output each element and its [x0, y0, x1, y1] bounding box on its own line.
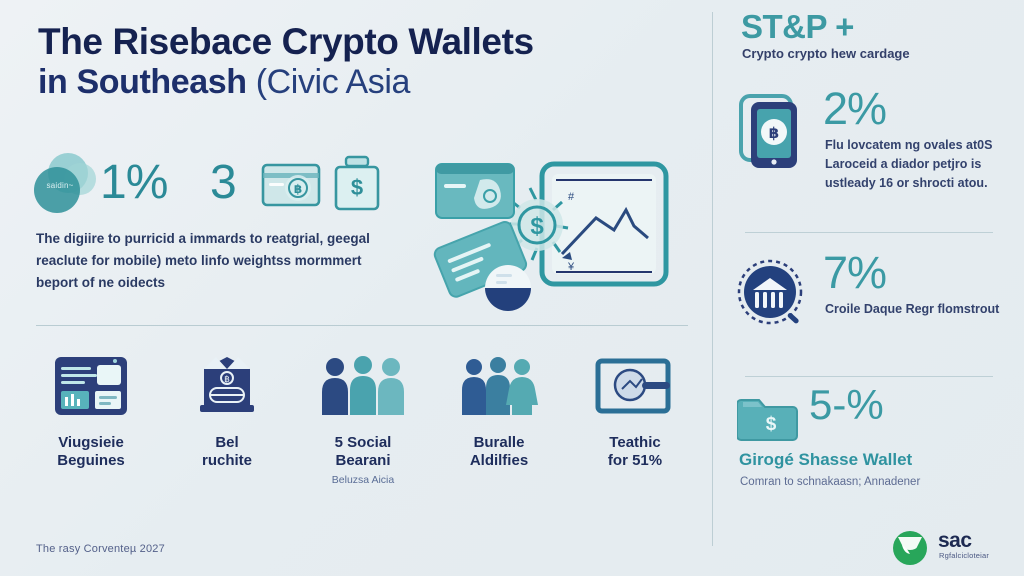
teal-blob-icon: saidin~ — [34, 153, 96, 213]
people-group-icon — [298, 348, 428, 424]
bank-magnifier-icon — [737, 256, 807, 334]
sidebar: ST&P + Crypto crypto hew cardage ฿ 2% Fl… — [713, 0, 1024, 576]
eagle-shield-icon — [890, 529, 932, 567]
feature-item-dashboard[interactable]: Viugsieie Beguines — [26, 348, 156, 474]
svg-text:$: $ — [766, 414, 777, 435]
feature-caption: Teathic for 51% — [570, 434, 700, 471]
feature-item-audience[interactable]: Buralle Aldilfies — [434, 348, 564, 474]
svg-text:¥: ¥ — [567, 261, 575, 273]
feature-subcaption: Beluzsa Aicia — [298, 474, 428, 487]
credit-card-icon — [436, 164, 514, 218]
svg-text:#: # — [568, 191, 575, 203]
feature-caption: Buralle Aldilfies — [434, 434, 564, 471]
sidebar-stat-text: Flu lovcatem ng ovales at0S Laroceid a d… — [825, 136, 1020, 192]
wallet-label: Girogé Shasse Wallet — [739, 450, 912, 470]
screen-search-icon — [570, 348, 700, 424]
mobile-phone-bitcoin-icon: ฿ — [737, 92, 807, 170]
title-line-1: The Risebace Crypto Wallets — [38, 22, 688, 61]
sidebar-stat-text: Croile Daque Regr flomstrout — [825, 300, 1020, 319]
wallet-stat-value: 5-% — [809, 384, 884, 426]
sidebar-stat-value: 2% — [823, 86, 886, 131]
brand-logo[interactable]: sac Rgfalcicloteiar — [890, 527, 1010, 567]
feature-caption: Bel ruchite — [162, 434, 292, 471]
sidebar-title: ST&P + — [741, 8, 854, 46]
svg-text:$: $ — [530, 213, 544, 240]
page-title: The Risebace Crypto Wallets in Southeash… — [38, 22, 688, 100]
svg-text:฿: ฿ — [769, 124, 779, 142]
dashboard-icon — [26, 348, 156, 424]
feature-caption: 5 Social Bearani — [298, 434, 428, 471]
sidebar-subtitle: Crypto crypto hew cardage — [742, 46, 1002, 61]
title-line-2-light: (Civic Asia — [256, 63, 410, 101]
card-wallet-icon: ฿ — [260, 159, 322, 211]
svg-text:฿: ฿ — [224, 374, 230, 384]
sidebar-divider-2 — [745, 376, 993, 377]
blob-label: saidin~ — [38, 181, 82, 190]
stat-strip: saidin~ 1% 3 ฿ $ — [34, 145, 394, 225]
sidebar-stat-value: 7% — [823, 250, 886, 295]
body-paragraph: The digiire to purricid a immards to rea… — [36, 228, 386, 294]
svg-text:฿: ฿ — [294, 182, 302, 196]
sidebar-divider-1 — [745, 232, 993, 233]
infographic-poster: The Risebace Crypto Wallets in Southeash… — [0, 0, 1024, 576]
money-jar-icon: $ — [332, 155, 382, 213]
stat-value-percent: 1% — [100, 159, 167, 207]
feature-item-search[interactable]: Teathic for 51% — [570, 348, 700, 474]
logo-wordmark: sac — [938, 529, 972, 553]
svg-text:$: $ — [351, 175, 363, 200]
bank-icon: ฿ — [162, 348, 292, 424]
folder-dollar-icon: $ — [737, 392, 799, 444]
feature-item-social[interactable]: 5 Social Bearani Beluzsa Aicia — [298, 348, 428, 486]
crypto-payment-illustration: # ¥ $ — [410, 148, 680, 318]
people-trio-icon — [434, 348, 564, 424]
wallet-subcaption: Comran to schnakaasn; Annadener — [740, 476, 1010, 488]
feature-caption: Viugsieie Beguines — [26, 434, 156, 471]
title-line-2: in Southeash (Civic Asia — [38, 64, 688, 100]
logo-tagline: Rgfalcicloteiar — [939, 551, 989, 560]
title-line-2-bold: in Southeash — [38, 63, 256, 101]
feature-item-bank[interactable]: ฿ Bel ruchite — [162, 348, 292, 474]
left-column: The Risebace Crypto Wallets in Southeash… — [0, 0, 712, 576]
feature-icon-row: Viugsieie Beguines ฿ — [26, 348, 698, 508]
footer-credit: The rasy Corventeµ 2027 — [36, 543, 165, 555]
section-divider — [36, 325, 688, 326]
stat-value-count: 3 — [210, 159, 236, 207]
